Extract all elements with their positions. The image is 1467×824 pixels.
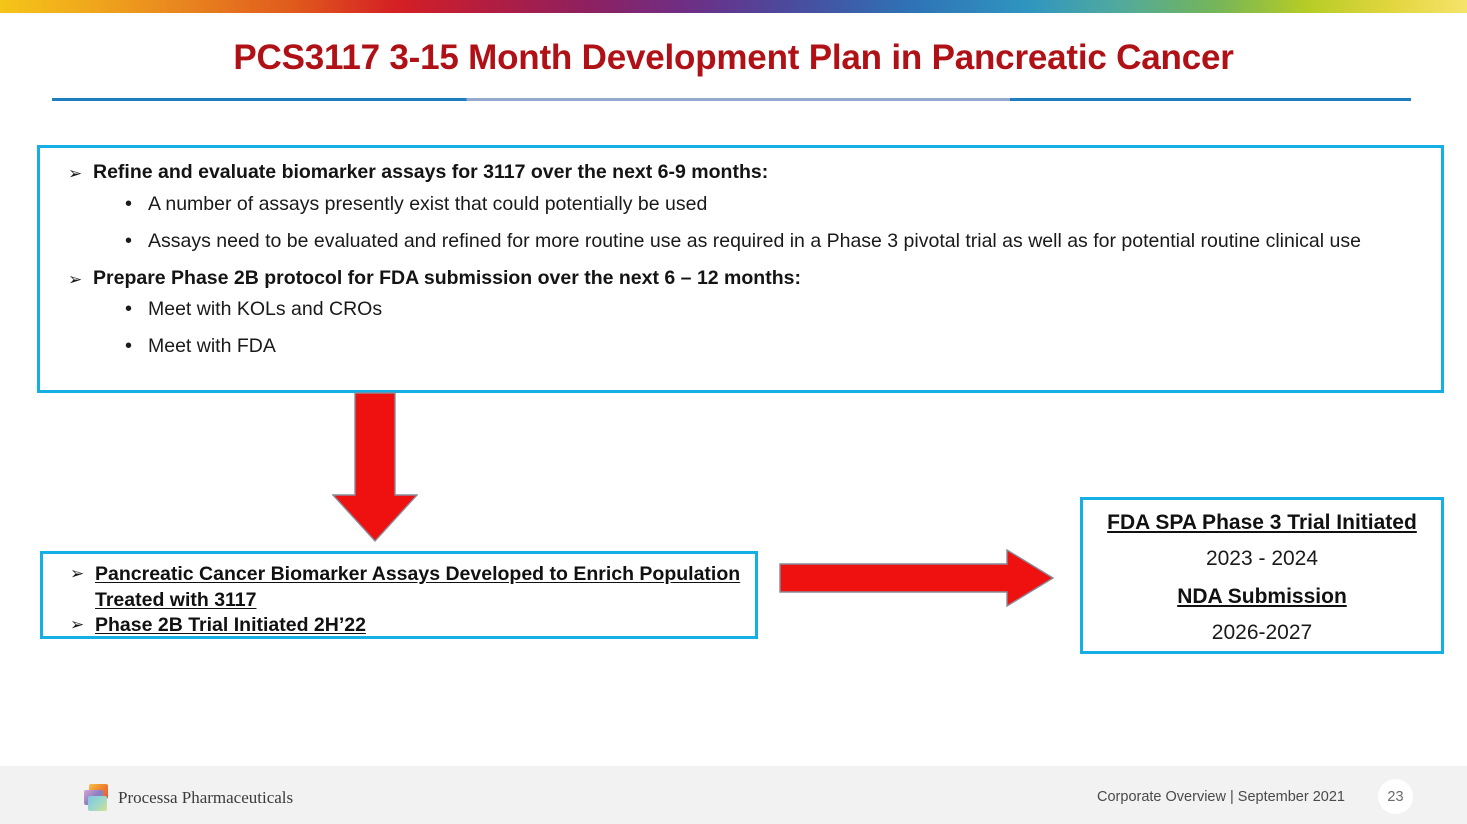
objective-subtext: A number of assays presently exist that … xyxy=(148,193,707,215)
objective-heading: Prepare Phase 2B protocol for FDA submis… xyxy=(93,267,801,289)
list-item: • Assays need to be evaluated and refine… xyxy=(93,229,1427,255)
arrow-bullet-icon: ➢ xyxy=(68,268,82,292)
down-arrow-icon xyxy=(332,392,418,542)
objective-subtext: Meet with KOLs and CROs xyxy=(148,298,382,320)
rainbow-accent-bar xyxy=(0,0,1467,13)
outcome-list: ➢ Pancreatic Cancer Biomarker Assays Dev… xyxy=(53,562,745,639)
title-area: PCS3117 3-15 Month Development Plan in P… xyxy=(0,38,1467,78)
company-name: Processa Pharmaceuticals xyxy=(118,788,293,808)
company-logo-group: Processa Pharmaceuticals xyxy=(80,783,293,813)
processa-logo-icon xyxy=(80,783,110,813)
objectives-box: ➢ Refine and evaluate biomarker assays f… xyxy=(37,145,1444,393)
arrow-bullet-icon: ➢ xyxy=(68,162,82,186)
list-item: • A number of assays presently exist tha… xyxy=(93,192,1427,218)
list-item: • Meet with KOLs and CROs xyxy=(93,297,1427,323)
objective-heading: Refine and evaluate biomarker assays for… xyxy=(93,161,768,183)
objectives-list: ➢ Refine and evaluate biomarker assays f… xyxy=(54,160,1427,360)
objective-subtext: Assays need to be evaluated and refined … xyxy=(148,230,1361,252)
milestone-years: 2023 - 2024 xyxy=(1091,546,1433,572)
list-item: ➢ Refine and evaluate biomarker assays f… xyxy=(54,160,1427,255)
arrow-bullet-icon: ➢ xyxy=(70,614,84,636)
outcome-text: Pancreatic Cancer Biomarker Assays Devel… xyxy=(95,563,740,611)
objective-subtext: Meet with FDA xyxy=(148,335,276,357)
right-arrow-icon xyxy=(779,549,1054,607)
milestone-heading: NDA Submission xyxy=(1091,584,1433,610)
outcome-box: ➢ Pancreatic Cancer Biomarker Assays Dev… xyxy=(40,551,758,639)
objective-sublist: • A number of assays presently exist tha… xyxy=(93,192,1427,255)
page-number-badge: 23 xyxy=(1378,779,1413,814)
logo-square-teal xyxy=(88,796,107,811)
list-item: • Meet with FDA xyxy=(93,334,1427,360)
title-divider-rule xyxy=(52,98,1411,101)
dot-bullet-icon: • xyxy=(125,191,132,218)
objective-sublist: • Meet with KOLs and CROs • Meet with FD… xyxy=(93,297,1427,360)
arrow-bullet-icon: ➢ xyxy=(70,563,84,585)
page-title: PCS3117 3-15 Month Development Plan in P… xyxy=(0,38,1467,78)
list-item: ➢ Prepare Phase 2B protocol for FDA subm… xyxy=(54,266,1427,361)
milestone-years: 2026-2027 xyxy=(1091,620,1433,646)
dot-bullet-icon: • xyxy=(125,296,132,323)
list-item: ➢ Pancreatic Cancer Biomarker Assays Dev… xyxy=(53,562,745,613)
slide-canvas: PCS3117 3-15 Month Development Plan in P… xyxy=(0,0,1467,824)
dot-bullet-icon: • xyxy=(125,228,132,255)
dot-bullet-icon: • xyxy=(125,333,132,360)
milestone-box: FDA SPA Phase 3 Trial Initiated 2023 - 2… xyxy=(1080,497,1444,654)
milestone-heading: FDA SPA Phase 3 Trial Initiated xyxy=(1091,510,1433,536)
footer-meta-text: Corporate Overview | September 2021 xyxy=(1097,789,1345,805)
list-item: ➢ Phase 2B Trial Initiated 2H’22 xyxy=(53,613,745,639)
outcome-text: Phase 2B Trial Initiated 2H’22 xyxy=(95,614,366,636)
